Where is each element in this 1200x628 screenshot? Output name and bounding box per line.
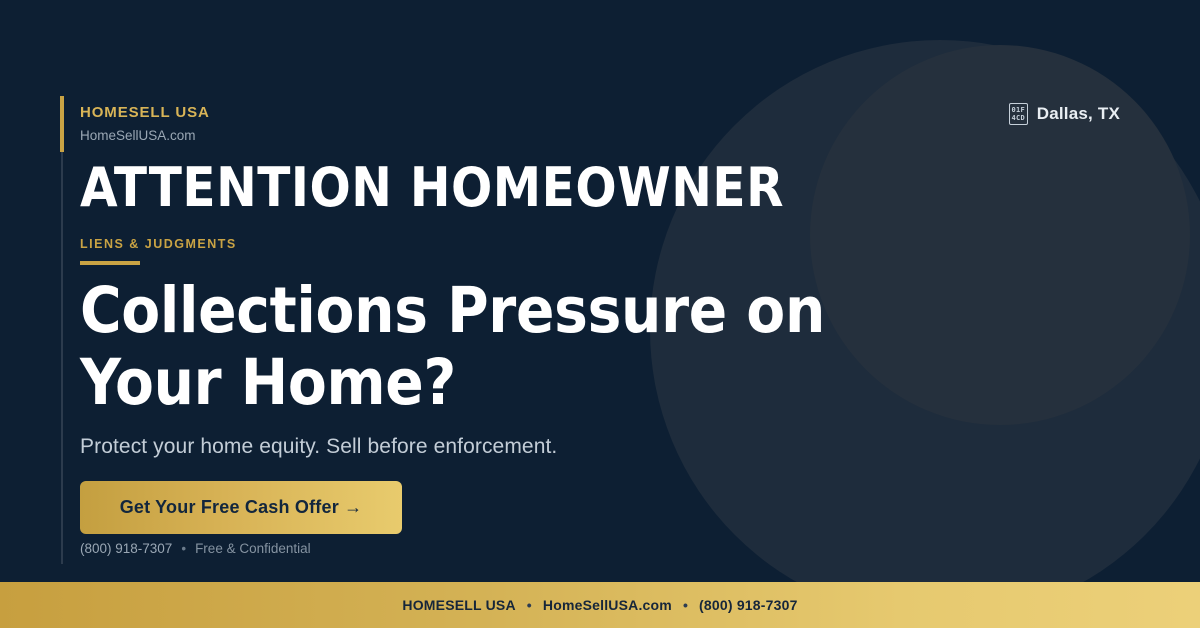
category-eyebrow: LIENS & JUDGMENTS	[80, 237, 237, 251]
brand-name: HOMESELL USA	[80, 104, 210, 122]
eyebrow-underline-rule	[80, 261, 140, 265]
brand-block: HOMESELL USA HomeSellUSA.com	[80, 104, 210, 144]
location-label: Dallas, TX	[1037, 104, 1120, 124]
attention-kicker: ATTENTION HOMEOWNER	[80, 158, 784, 217]
left-accent-bar-gold	[60, 96, 64, 152]
ad-content: HOMESELL USA HomeSellUSA.com 01F 4CD Dal…	[80, 0, 1120, 582]
location-badge: 01F 4CD Dallas, TX	[1009, 103, 1120, 125]
subheadline: Protect your home equity. Sell before en…	[80, 435, 557, 459]
fineprint-separator: •	[181, 541, 186, 556]
fineprint-note: Free & Confidential	[195, 541, 311, 556]
left-accent-line-faint	[61, 152, 63, 564]
get-free-cash-offer-button[interactable]: Get Your Free Cash Offer →	[80, 481, 402, 534]
location-pin-icon: 01F 4CD	[1009, 103, 1028, 125]
footer-phone[interactable]: (800) 918-7307	[699, 597, 798, 613]
footer-website[interactable]: HomeSellUSA.com	[543, 597, 672, 613]
fineprint-phone[interactable]: (800) 918-7307	[80, 541, 172, 556]
footer-contact-strip: HOMESELL USA • HomeSellUSA.com • (800) 9…	[402, 597, 797, 613]
footer-separator-2: •	[683, 597, 688, 613]
ad-canvas: HOMESELL USA HomeSellUSA.com 01F 4CD Dal…	[0, 0, 1200, 628]
fineprint-row: (800) 918-7307 • Free & Confidential	[80, 541, 311, 556]
footer-separator-1: •	[527, 597, 532, 613]
page-title: Collections Pressure on Your Home?	[80, 275, 980, 419]
footer-brand: HOMESELL USA	[402, 597, 515, 613]
brand-website: HomeSellUSA.com	[80, 128, 210, 144]
footer-bar: HOMESELL USA • HomeSellUSA.com • (800) 9…	[0, 582, 1200, 628]
